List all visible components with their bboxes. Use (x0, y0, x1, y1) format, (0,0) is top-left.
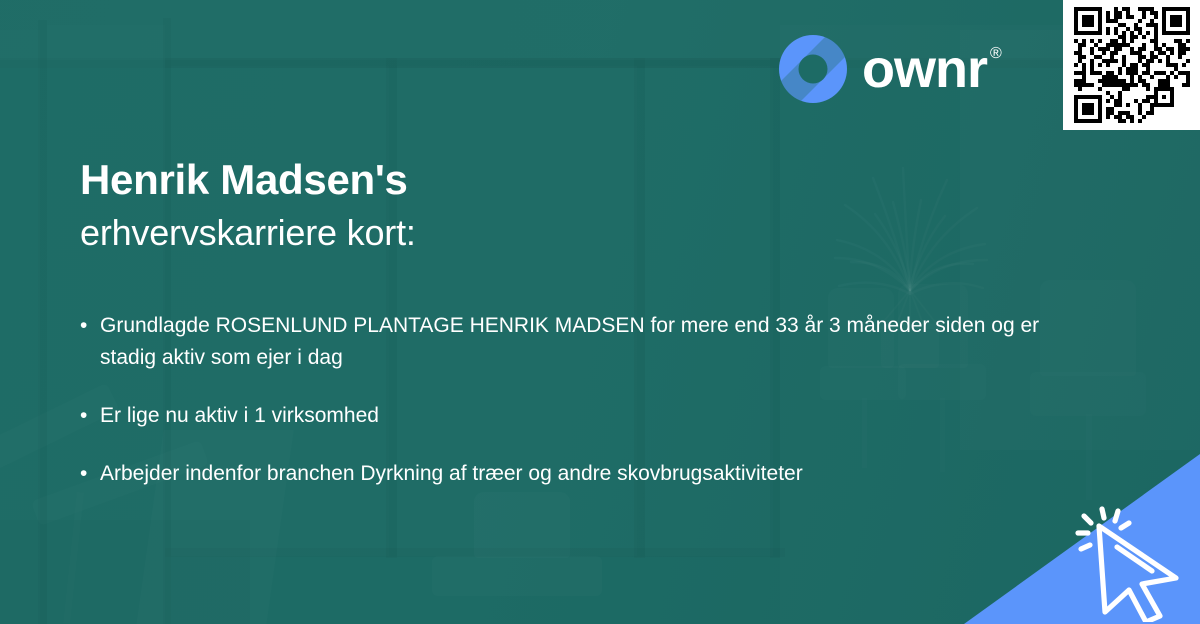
list-item-label: Er lige nu aktiv i 1 virksomhed (100, 400, 1080, 432)
qr-code-icon (1074, 7, 1190, 123)
registered-trademark-icon: ® (990, 46, 1001, 62)
headline-primary: Henrik Madsen's (80, 155, 416, 205)
click-cursor-icon[interactable] (1072, 504, 1192, 622)
headline-secondary: erhvervskarriere kort: (80, 210, 416, 255)
qr-code[interactable] (1063, 0, 1200, 130)
ownr-circle-slash-logo-icon (778, 34, 848, 104)
list-item-label: Arbejder indenfor branchen Dyrkning af t… (100, 458, 1080, 490)
ownr-wordmark: ownr ® (862, 42, 1001, 96)
career-facts-list: • Grundlagde ROSENLUND PLANTAGE HENRIK M… (80, 310, 1080, 516)
list-item: • Grundlagde ROSENLUND PLANTAGE HENRIK M… (80, 310, 1080, 374)
list-item-label: Grundlagde ROSENLUND PLANTAGE HENRIK MAD… (100, 310, 1080, 374)
business-card-banner: ownr ® Henrik Madsen's erhvervskarriere … (0, 0, 1200, 624)
bullet-dot-icon: • (80, 400, 100, 432)
list-item: • Er lige nu aktiv i 1 virksomhed (80, 400, 1080, 432)
ownr-wordmark-text: ownr (862, 42, 987, 96)
page-title: Henrik Madsen's erhvervskarriere kort: (80, 155, 416, 255)
bullet-dot-icon: • (80, 310, 100, 342)
list-item: • Arbejder indenfor branchen Dyrkning af… (80, 458, 1080, 490)
ownr-logo[interactable]: ownr ® (778, 34, 1001, 104)
bullet-dot-icon: • (80, 458, 100, 490)
